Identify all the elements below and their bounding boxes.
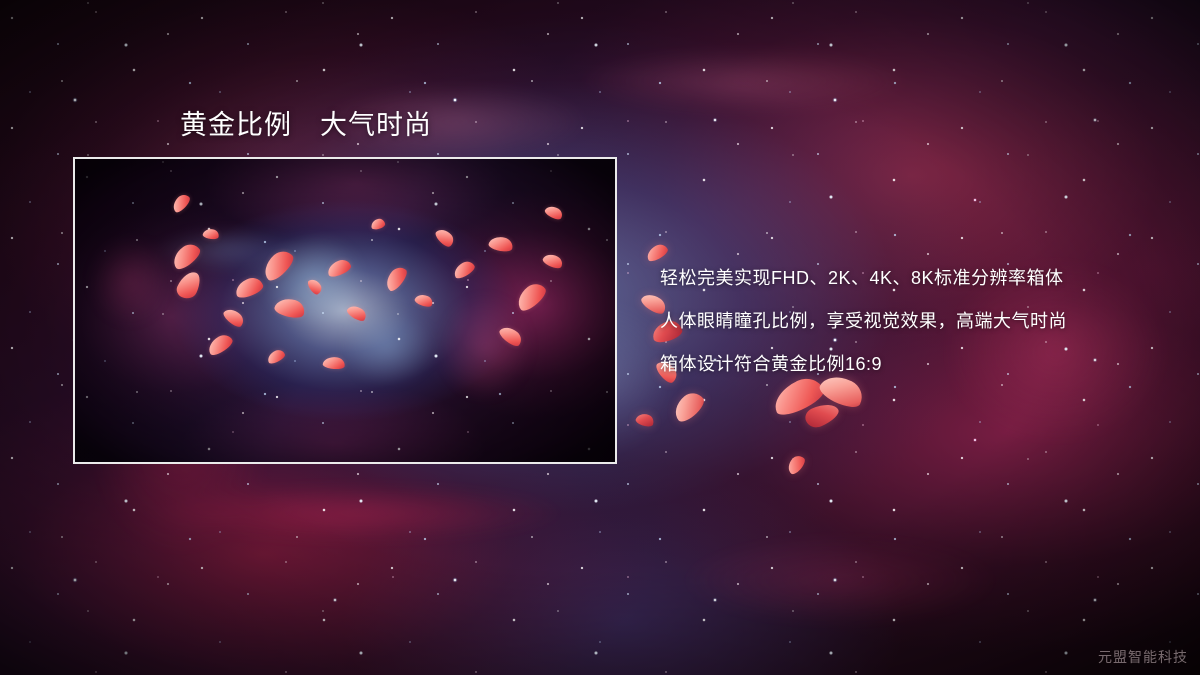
petal-decoration <box>170 192 193 215</box>
petal-decoration <box>784 453 807 477</box>
body-text-block: 轻松完美实现FHD、2K、4K、8K标准分辨率箱体 人体眼睛瞳孔比例，享受视觉效… <box>660 257 1180 386</box>
petal-decoration <box>451 259 477 281</box>
watermark: 元盟智能科技 <box>1098 647 1188 667</box>
petal-decoration <box>543 203 564 222</box>
body-text-line: 人体眼睛瞳孔比例，享受视觉效果，高端大气时尚 <box>660 300 1180 343</box>
petal-decoration <box>202 227 220 240</box>
petal-decoration <box>169 240 204 272</box>
framed-image <box>73 157 617 464</box>
petal-decoration <box>497 323 524 349</box>
petal-decoration <box>325 257 352 278</box>
petal-decoration <box>174 268 204 302</box>
body-text-line: 轻松完美实现FHD、2K、4K、8K标准分辨率箱体 <box>660 257 1180 300</box>
petal-decoration <box>221 305 246 329</box>
body-text-line: 箱体设计符合黄金比例16:9 <box>660 343 1180 386</box>
inner-starfield-medium <box>75 159 615 462</box>
petal-decoration <box>205 332 235 358</box>
petal-decoration <box>669 388 708 425</box>
petal-decoration <box>259 246 298 284</box>
petal-decoration <box>513 279 550 314</box>
page-title: 黄金比例 大气时尚 <box>180 103 432 142</box>
inner-starfield-small <box>75 159 615 462</box>
inner-nebula-background <box>75 159 615 462</box>
petal-decoration <box>488 234 515 253</box>
petal-decoration <box>541 251 564 271</box>
petal-decoration <box>273 295 307 321</box>
inner-vignette <box>75 159 615 462</box>
inner-nebula-wisps <box>75 159 615 462</box>
petal-decoration <box>345 302 368 323</box>
petal-decoration <box>370 218 386 231</box>
petal-decoration <box>433 226 456 250</box>
presentation-slide: 黄金比例 大气时尚 轻松完美实现FHD、2K、4K、8K标准分辨率箱体 人体眼睛… <box>0 0 1200 675</box>
petal-decoration <box>382 264 410 294</box>
petal-decoration <box>635 412 656 429</box>
petal-decoration <box>322 356 345 371</box>
petal-decoration <box>266 348 287 365</box>
petal-decoration <box>233 275 265 300</box>
petal-decoration <box>306 277 324 296</box>
petal-decoration <box>414 292 435 309</box>
